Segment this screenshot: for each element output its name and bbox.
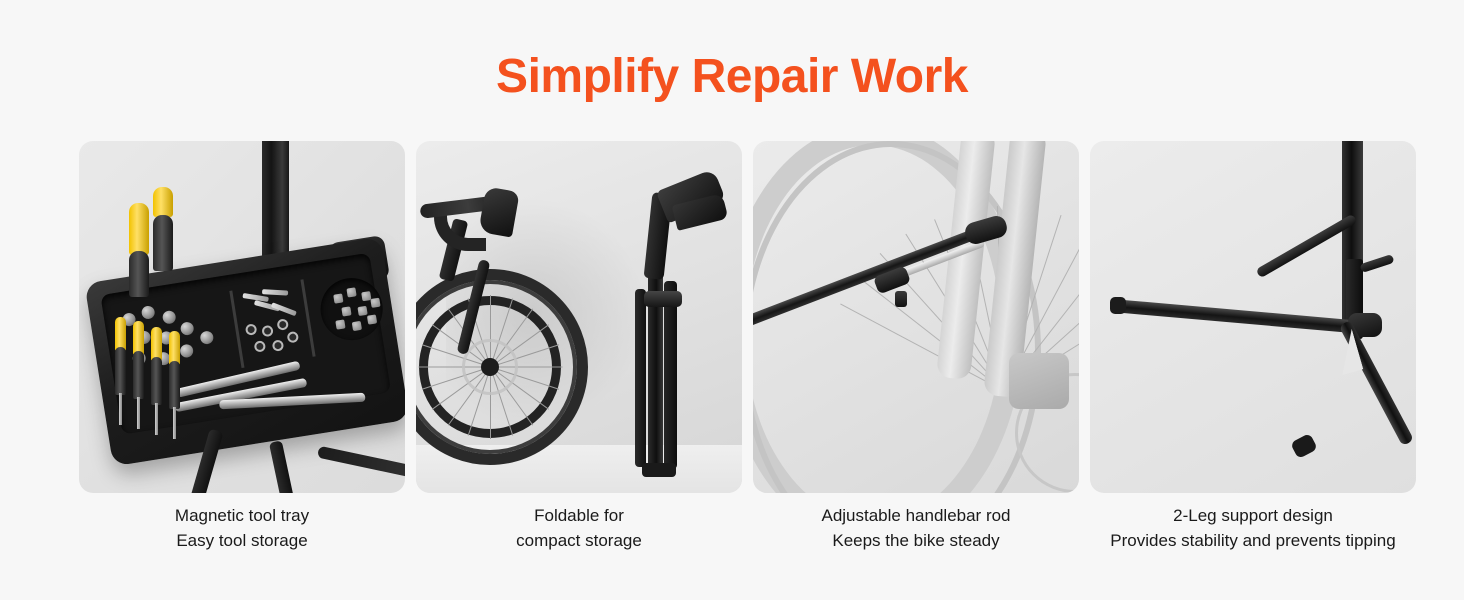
caption-line-secondary: Keeps the bike steady bbox=[746, 528, 1086, 553]
tray-divider-icon bbox=[300, 279, 315, 357]
precision-driver-grip-icon bbox=[169, 361, 180, 409]
product-feature-banner: Simplify Repair Work bbox=[0, 0, 1464, 600]
leg-end-cap-icon bbox=[1290, 433, 1318, 459]
feature-caption: Foldable for compact storage bbox=[409, 503, 749, 553]
screwdriver-handle-icon bbox=[153, 187, 173, 217]
caption-line-primary: Adjustable handlebar rod bbox=[746, 503, 1086, 528]
precision-driver-icon bbox=[151, 327, 162, 361]
caption-line-secondary: Provides stability and prevents tipping bbox=[1083, 528, 1423, 553]
bolt-well-icon bbox=[316, 274, 387, 345]
feature-caption: 2-Leg support design Provides stability … bbox=[1083, 503, 1423, 553]
adjustment-knob-icon bbox=[644, 291, 682, 307]
stand-foot-icon bbox=[642, 463, 676, 477]
screwdriver-grip-icon bbox=[129, 251, 149, 297]
caption-line-primary: 2-Leg support design bbox=[1083, 503, 1423, 528]
stand-leg-icon bbox=[269, 440, 294, 493]
precision-driver-icon bbox=[115, 317, 126, 351]
caption-line-primary: Foldable for bbox=[409, 503, 749, 528]
tray-divider-icon bbox=[229, 291, 244, 369]
caption-line-secondary: compact storage bbox=[409, 528, 749, 553]
feature-caption: Magnetic tool tray Easy tool storage bbox=[72, 503, 412, 553]
precision-driver-icon bbox=[169, 331, 180, 365]
precision-driver-grip-icon bbox=[151, 357, 162, 405]
feature-card-two-leg-support: 2-Leg support design Provides stability … bbox=[1090, 141, 1416, 553]
page-title: Simplify Repair Work bbox=[0, 48, 1464, 106]
feature-image-adjustable-handlebar-rod bbox=[753, 141, 1079, 493]
quick-release-lever-icon bbox=[1359, 254, 1394, 273]
feature-image-foldable-storage bbox=[416, 141, 742, 493]
precision-driver-grip-icon bbox=[133, 351, 144, 399]
screwdriver-grip-icon bbox=[153, 215, 173, 271]
leg-end-cap-icon bbox=[1110, 297, 1126, 314]
feature-card-row: Magnetic tool tray Easy tool storage bbox=[79, 141, 1385, 553]
feature-card-foldable-storage: Foldable for compact storage bbox=[416, 141, 742, 553]
folded-stand-tube-icon bbox=[664, 281, 677, 469]
precision-driver-icon bbox=[133, 321, 144, 355]
feature-image-magnetic-tool-tray bbox=[79, 141, 405, 493]
caption-line-secondary: Easy tool storage bbox=[72, 528, 412, 553]
stand-leg-icon bbox=[317, 446, 405, 481]
folded-stand-tube-icon bbox=[635, 289, 646, 467]
horizontal-leg-icon bbox=[1111, 299, 1359, 334]
caption-line-primary: Magnetic tool tray bbox=[72, 503, 412, 528]
screwdriver-handle-icon bbox=[129, 203, 149, 255]
wheel-hub-icon bbox=[481, 358, 499, 376]
precision-driver-grip-icon bbox=[115, 347, 126, 395]
feature-card-adjustable-handlebar-rod: Adjustable handlebar rod Keeps the bike … bbox=[753, 141, 1079, 553]
feature-image-two-leg-support bbox=[1090, 141, 1416, 493]
rod-lock-knob-icon bbox=[895, 291, 907, 307]
feature-caption: Adjustable handlebar rod Keeps the bike … bbox=[746, 503, 1086, 553]
wheel-hub-icon bbox=[1009, 353, 1069, 409]
feature-card-magnetic-tool-tray: Magnetic tool tray Easy tool storage bbox=[79, 141, 405, 553]
